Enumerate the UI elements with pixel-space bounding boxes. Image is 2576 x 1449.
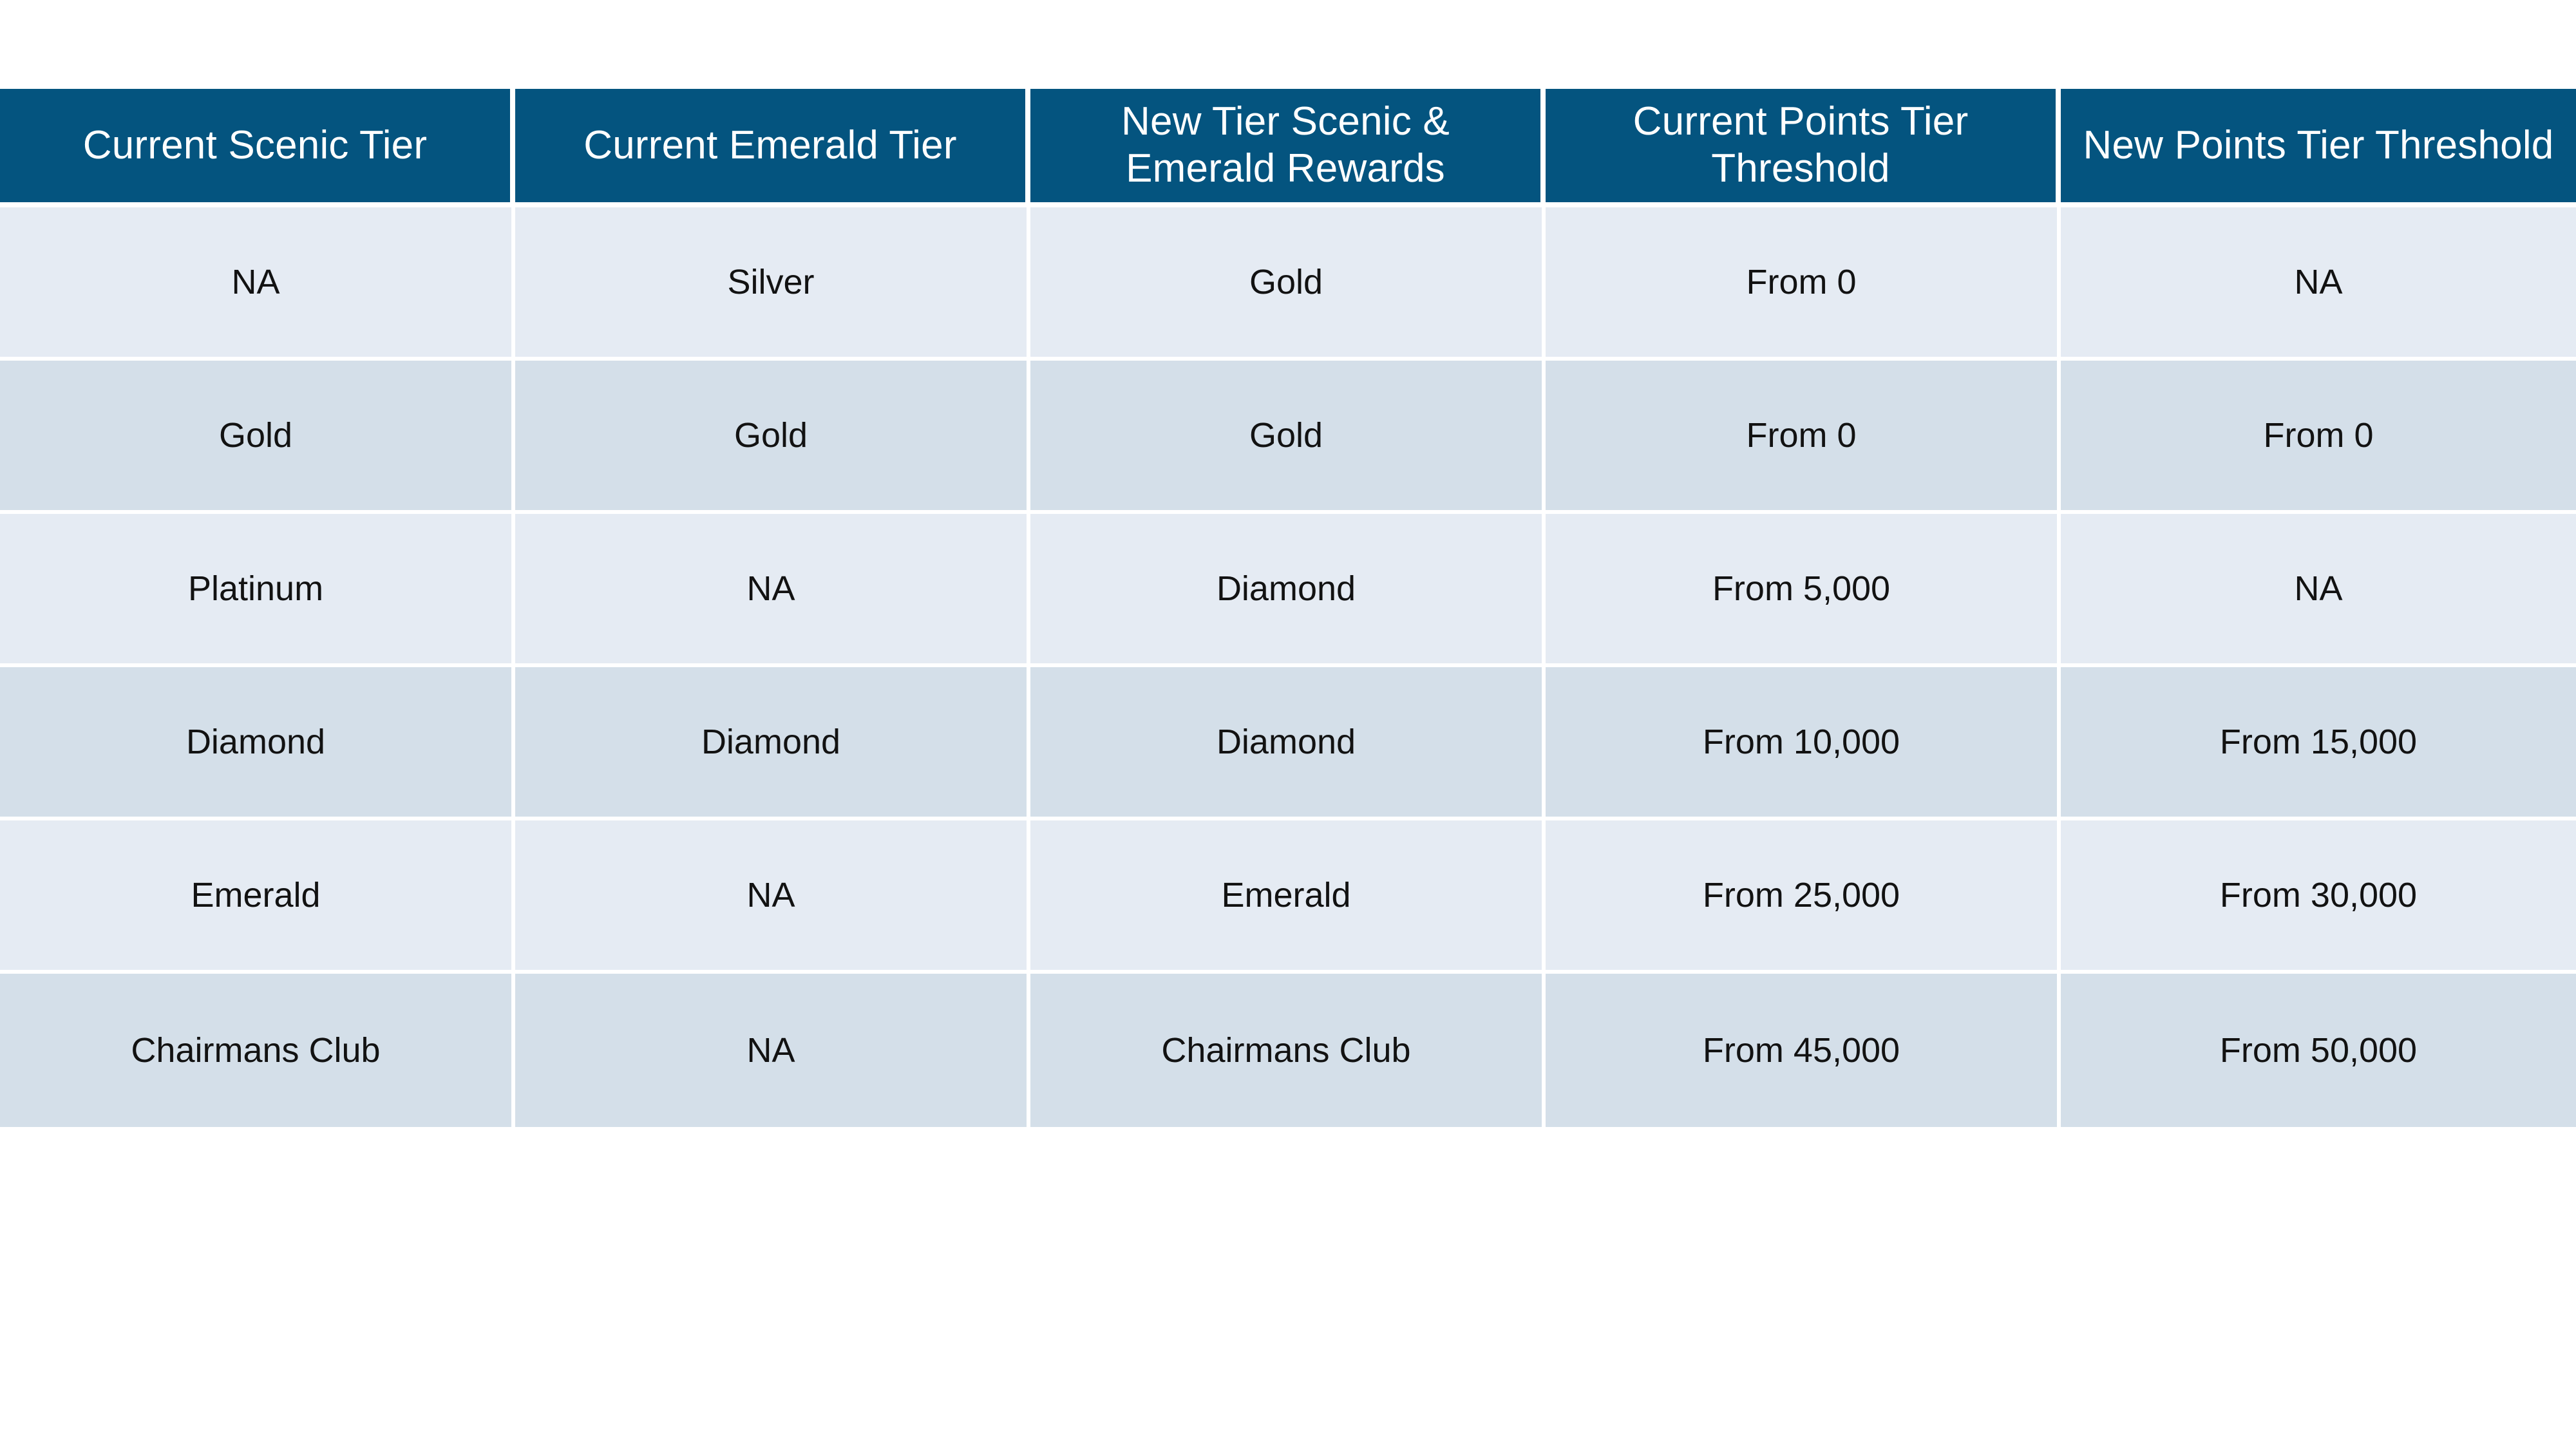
cell-current-points-tier-threshold: From 0 [1546, 361, 2061, 514]
cell-current-scenic-tier: Emerald [0, 820, 515, 974]
table-header-row: Current Scenic Tier Current Emerald Tier… [0, 89, 2576, 207]
cell-new-tier-scenic-emerald-rewards: Gold [1030, 361, 1546, 514]
cell-current-scenic-tier: Chairmans Club [0, 974, 515, 1127]
cell-new-points-tier-threshold: From 15,000 [2061, 667, 2576, 820]
table-header: Current Scenic Tier Current Emerald Tier… [0, 89, 2576, 207]
cell-current-points-tier-threshold: From 5,000 [1546, 514, 2061, 667]
cell-new-tier-scenic-emerald-rewards: Emerald [1030, 820, 1546, 974]
cell-current-emerald-tier: NA [515, 820, 1030, 974]
cell-current-points-tier-threshold: From 10,000 [1546, 667, 2061, 820]
table-body: NA Silver Gold From 0 NA Gold Gold Gold … [0, 207, 2576, 1127]
cell-new-points-tier-threshold: From 50,000 [2061, 974, 2576, 1127]
cell-new-tier-scenic-emerald-rewards: Chairmans Club [1030, 974, 1546, 1127]
cell-current-emerald-tier: Gold [515, 361, 1030, 514]
cell-current-points-tier-threshold: From 45,000 [1546, 974, 2061, 1127]
cell-current-scenic-tier: Platinum [0, 514, 515, 667]
cell-current-emerald-tier: Silver [515, 207, 1030, 361]
cell-new-tier-scenic-emerald-rewards: Diamond [1030, 514, 1546, 667]
cell-new-points-tier-threshold: From 0 [2061, 361, 2576, 514]
page-root: Current Scenic Tier Current Emerald Tier… [0, 0, 2576, 1449]
table-row: Emerald NA Emerald From 25,000 From 30,0… [0, 820, 2576, 974]
table-row: Chairmans Club NA Chairmans Club From 45… [0, 974, 2576, 1127]
cell-current-emerald-tier: NA [515, 974, 1030, 1127]
cell-current-emerald-tier: Diamond [515, 667, 1030, 820]
column-header-new-points-tier-threshold: New Points Tier Threshold [2061, 89, 2576, 207]
column-header-current-points-tier-threshold: Current Points Tier Threshold [1546, 89, 2061, 207]
column-header-new-tier-scenic-emerald-rewards: New Tier Scenic & Emerald Rewards [1030, 89, 1546, 207]
cell-new-tier-scenic-emerald-rewards: Diamond [1030, 667, 1546, 820]
table-row: Platinum NA Diamond From 5,000 NA [0, 514, 2576, 667]
cell-new-points-tier-threshold: NA [2061, 207, 2576, 361]
cell-current-points-tier-threshold: From 0 [1546, 207, 2061, 361]
column-header-current-emerald-tier: Current Emerald Tier [515, 89, 1030, 207]
cell-current-scenic-tier: Gold [0, 361, 515, 514]
table-row: Diamond Diamond Diamond From 10,000 From… [0, 667, 2576, 820]
tier-comparison-table: Current Scenic Tier Current Emerald Tier… [0, 89, 2576, 1127]
table-row: Gold Gold Gold From 0 From 0 [0, 361, 2576, 514]
cell-current-scenic-tier: NA [0, 207, 515, 361]
cell-current-points-tier-threshold: From 25,000 [1546, 820, 2061, 974]
cell-new-points-tier-threshold: NA [2061, 514, 2576, 667]
cell-new-tier-scenic-emerald-rewards: Gold [1030, 207, 1546, 361]
cell-current-scenic-tier: Diamond [0, 667, 515, 820]
cell-current-emerald-tier: NA [515, 514, 1030, 667]
column-header-current-scenic-tier: Current Scenic Tier [0, 89, 515, 207]
cell-new-points-tier-threshold: From 30,000 [2061, 820, 2576, 974]
table-row: NA Silver Gold From 0 NA [0, 207, 2576, 361]
